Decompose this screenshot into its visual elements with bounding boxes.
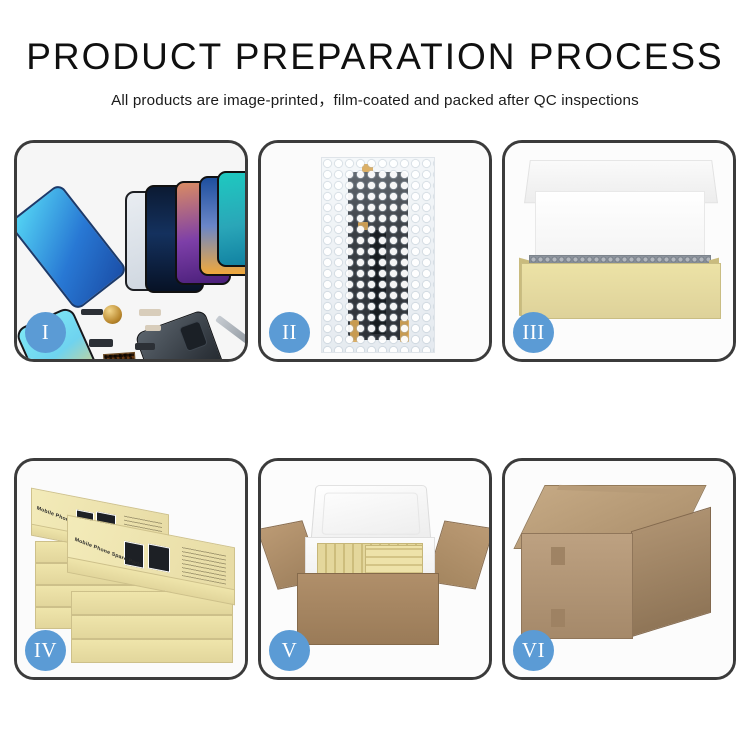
process-step-1: I (14, 140, 248, 362)
foam-cooler-lid (310, 485, 431, 544)
process-step-4: Mobile Phone Spare Parts Mobile Phone Sp… (14, 458, 248, 680)
chip-component-3 (135, 343, 155, 350)
speaker-component-icon (103, 305, 122, 324)
carton-tab-upper (551, 547, 565, 565)
yellow-box-body (521, 263, 721, 319)
flex-cable-1 (139, 309, 161, 316)
chip-component-2 (89, 339, 113, 347)
box-label-thumb-4 (148, 543, 170, 572)
step-badge-5: V (269, 630, 310, 671)
chip-component-1 (81, 309, 103, 315)
tweezers-tool-icon (215, 315, 245, 346)
step-badge-4: IV (25, 630, 66, 671)
process-step-3: III (502, 140, 736, 362)
step-badge-3: III (513, 312, 554, 353)
carton-side-face (631, 507, 711, 637)
phone-screen-blue-tilted (17, 183, 128, 312)
flex-cable-2 (145, 325, 161, 331)
bubble-wrap-bag (321, 157, 435, 353)
carton-tab-lower (551, 609, 565, 627)
page-subtitle: All products are image-printed，film-coat… (0, 88, 750, 110)
process-step-grid: I II (14, 140, 736, 680)
bubble-texture (322, 158, 434, 352)
carton-body (297, 573, 439, 645)
step-badge-6: VI (513, 630, 554, 671)
step-badge-2: II (269, 312, 310, 353)
stacked-box-b2 (71, 615, 233, 639)
chip-array-component (103, 352, 137, 359)
step-badge-1: I (25, 312, 66, 353)
page-title: PRODUCT PREPARATION PROCESS (0, 38, 750, 77)
process-step-2: II (258, 140, 492, 362)
carton-front-face (521, 533, 633, 639)
header: PRODUCT PREPARATION PROCESS All products… (0, 0, 750, 110)
phone-screen-teal (217, 171, 245, 267)
stacked-box-b3 (71, 639, 233, 663)
process-step-6: VI (502, 458, 736, 680)
box-label-textlines-2 (182, 546, 226, 585)
process-step-5: V (258, 458, 492, 680)
product-preparation-infographic: PRODUCT PREPARATION PROCESS All products… (0, 0, 750, 750)
